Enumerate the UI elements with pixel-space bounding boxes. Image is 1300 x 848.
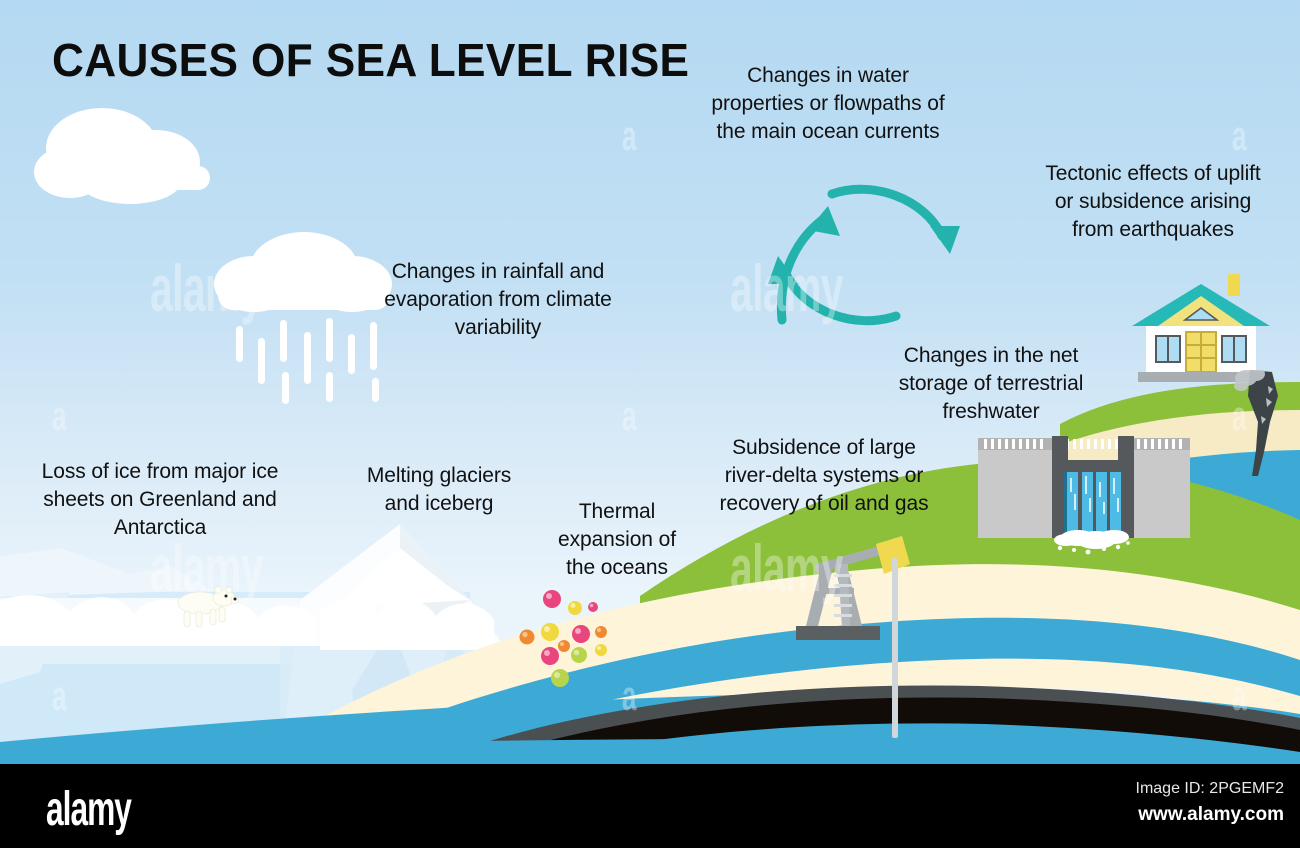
infographic-root: a a a alamy alamy a a a alamy alamy a a … [0, 0, 1300, 848]
dam-railing-center [1066, 439, 1118, 449]
dam-icon [978, 436, 1190, 560]
page-title: CAUSES OF SEA LEVEL RISE [52, 33, 689, 87]
label-subsidence: Subsidence of large river-delta systems … [694, 434, 954, 518]
alamy-logo: alamy [46, 782, 131, 837]
circular-arrows-icon [764, 170, 964, 340]
snow-waves-right [320, 598, 494, 650]
water-molecules-icon [505, 582, 615, 692]
label-ice-sheets: Loss of ice from major ice sheets on Gre… [10, 458, 310, 542]
arrow-head-right [930, 226, 960, 254]
earthquake-crack-icon [1232, 370, 1292, 480]
illustration-scene: a a a alamy alamy a a a alamy alamy a a … [0, 0, 1300, 764]
label-thermal: Thermal expansion of the oceans [528, 498, 706, 582]
house-icon [1128, 262, 1274, 386]
footer-bar: alamy Image ID: 2PGEMF2 www.alamy.com [0, 764, 1300, 848]
label-tectonic: Tectonic effects of uplift or subsidence… [1008, 160, 1298, 244]
dam-foam [1054, 530, 1130, 554]
drill-rod [892, 558, 898, 738]
dam-railing-left [984, 439, 1043, 449]
footer-url: www.alamy.com [1138, 804, 1284, 826]
label-glaciers: Melting glaciers and iceberg [340, 462, 538, 518]
polar-bear-icon [170, 585, 240, 629]
label-rainfall: Changes in rainfall and evaporation from… [362, 258, 634, 342]
label-freshwater: Changes in the net storage of terrestria… [874, 342, 1108, 426]
cloud-icon [30, 100, 250, 210]
footer-image-id: Image ID: 2PGEMF2 [1136, 780, 1285, 798]
label-currents: Changes in water properties or flowpaths… [678, 62, 978, 146]
raindrops [236, 318, 379, 404]
oil-pump-jack-icon [792, 530, 922, 760]
